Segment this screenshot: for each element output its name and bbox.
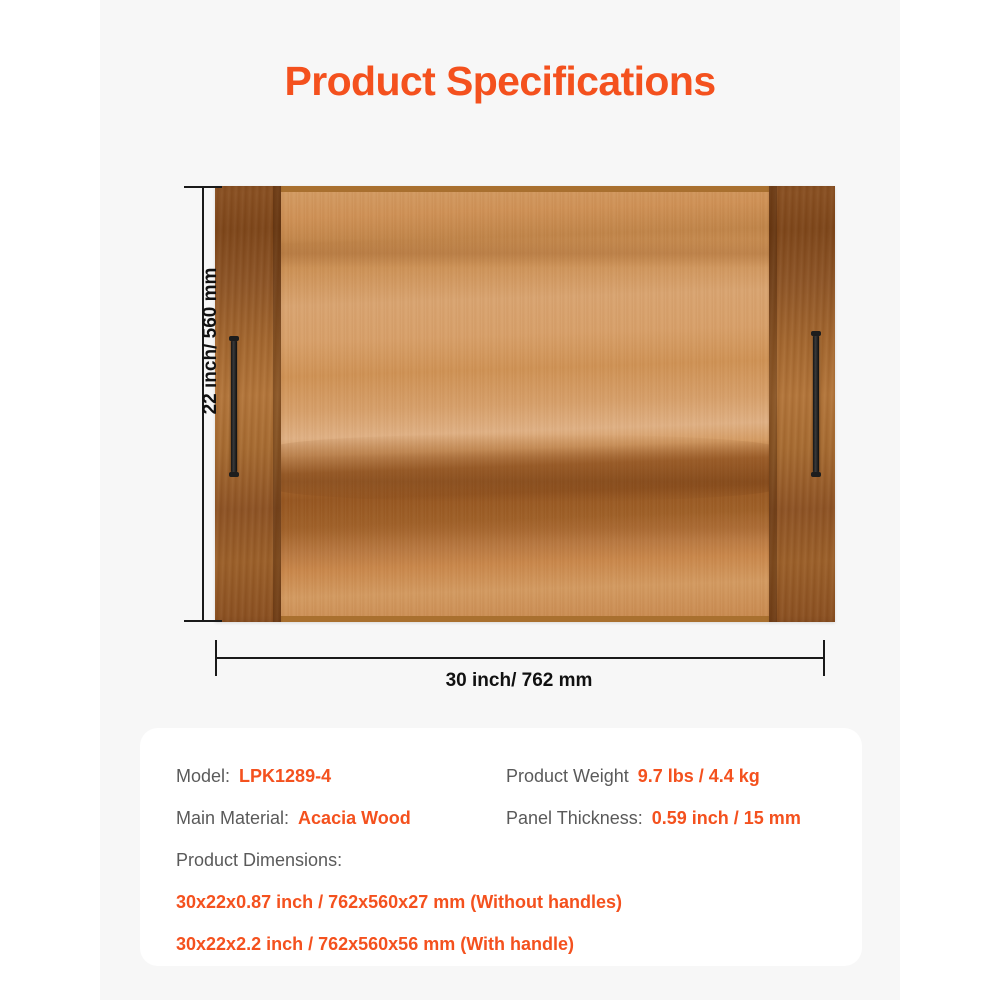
- spec-item-panel-thickness: Panel Thickness: 0.59 inch / 15 mm: [506, 808, 834, 829]
- spec-item-model: Model: LPK1289-4: [176, 766, 506, 787]
- width-dimension-label: 30 inch/ 762 mm: [215, 670, 823, 692]
- wood-grain-band: [273, 514, 777, 539]
- product-figure: 22 inch/ 560 mm 30 inch/ 762 mm: [140, 170, 860, 700]
- spec-row-dimensions-with-handle: 30x22x2.2 inch / 762x560x56 mm (With han…: [176, 934, 834, 955]
- spec-item-main-material: Main Material: Acacia Wood: [176, 808, 506, 829]
- width-dimension-tick-right: [823, 640, 825, 676]
- product-dimensions-label: Product Dimensions:: [176, 850, 342, 871]
- spec-label: Product Weight: [506, 766, 629, 787]
- spec-row-dimensions-without-handles: 30x22x0.87 inch / 762x560x27 mm (Without…: [176, 892, 834, 913]
- wooden-tray-image: [215, 186, 835, 622]
- height-dimension-label: 22 inch/ 560 mm: [200, 261, 222, 421]
- handle-cap: [811, 331, 821, 336]
- tray-handle-right: [813, 334, 819, 474]
- spec-label: Model:: [176, 766, 230, 787]
- tray-side-rail-left: [215, 186, 281, 622]
- dimension-with-handle-value: 30x22x2.2 inch / 762x560x56 mm (With han…: [176, 934, 574, 955]
- spec-value: 0.59 inch / 15 mm: [652, 808, 801, 829]
- spec-row: Model: LPK1289-4 Product Weight 9.7 lbs …: [176, 766, 834, 787]
- spec-value: Acacia Wood: [298, 808, 411, 829]
- handle-cap: [229, 472, 239, 477]
- tray-side-rail-right: [769, 186, 835, 622]
- specification-card: Model: LPK1289-4 Product Weight 9.7 lbs …: [140, 728, 862, 966]
- product-specifications-page: Product Specifications: [0, 0, 1000, 1000]
- width-dimension-line: [215, 657, 823, 659]
- spec-item-product-weight: Product Weight 9.7 lbs / 4.4 kg: [506, 766, 834, 787]
- wood-grain-band: [273, 239, 777, 269]
- handle-cap: [811, 472, 821, 477]
- spec-value: 9.7 lbs / 4.4 kg: [638, 766, 760, 787]
- spec-label: Main Material:: [176, 808, 289, 829]
- height-dimension-tick-top: [184, 186, 222, 188]
- wood-grain-band: [273, 434, 777, 502]
- spec-row: Main Material: Acacia Wood Panel Thickne…: [176, 808, 834, 829]
- spec-label: Panel Thickness:: [506, 808, 643, 829]
- handle-cap: [229, 336, 239, 341]
- specification-list: Model: LPK1289-4 Product Weight 9.7 lbs …: [176, 766, 834, 955]
- tray-inner-lip-left: [273, 186, 283, 622]
- dimension-without-handles-value: 30x22x0.87 inch / 762x560x27 mm (Without…: [176, 892, 622, 913]
- tray-floor: [273, 192, 777, 616]
- height-dimension-tick-bottom: [184, 620, 222, 622]
- tray-inner-lip-right: [767, 186, 777, 622]
- spec-value: LPK1289-4: [239, 766, 331, 787]
- spec-row-dimensions-heading: Product Dimensions:: [176, 850, 834, 871]
- page-title: Product Specifications: [0, 58, 1000, 105]
- tray-handle-left: [231, 339, 237, 474]
